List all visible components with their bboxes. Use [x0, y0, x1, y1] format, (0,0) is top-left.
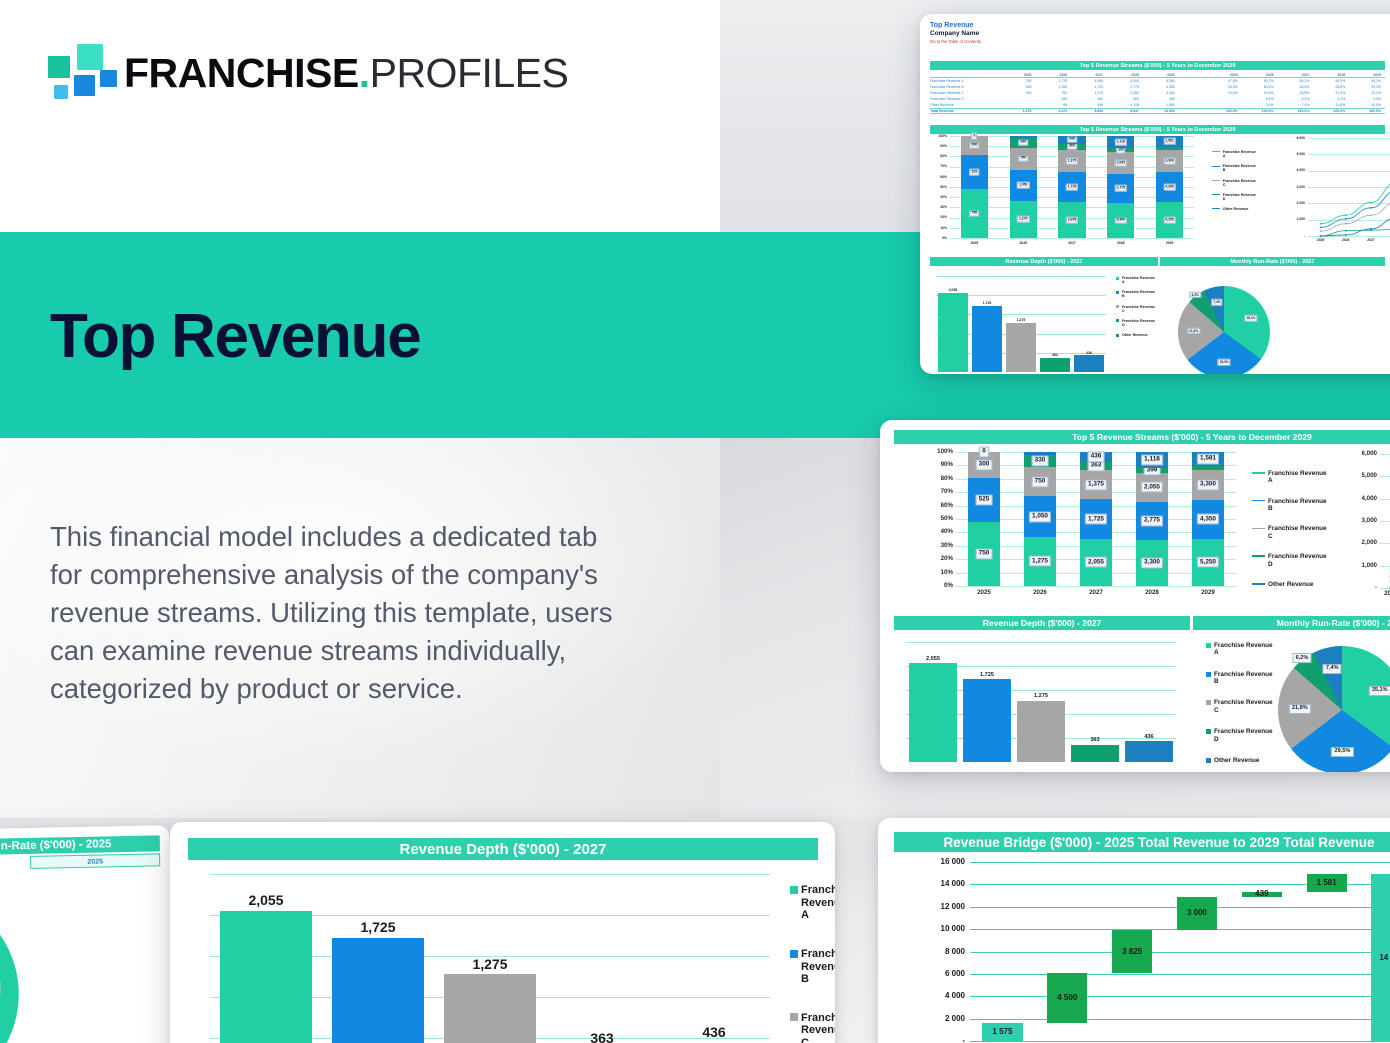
data-label: 2,055 — [1085, 557, 1107, 568]
data-label: 750 — [1032, 476, 1049, 487]
data-label: 1,725 — [1066, 184, 1078, 191]
data-label: 363 — [1071, 737, 1119, 743]
legend-swatch — [1116, 277, 1119, 280]
data-label: 1,050 — [1017, 182, 1029, 189]
pie-label: 7,4% — [1323, 664, 1342, 674]
data-label: 439 — [1242, 889, 1282, 898]
legend-label: Franchise Revenue C — [801, 1012, 835, 1043]
legend-swatch — [1212, 166, 1220, 167]
pie-label: 21,8% — [1187, 328, 1200, 334]
data-label: 1,725 — [332, 919, 424, 935]
legend-label: Franchise Revenue A — [1268, 470, 1327, 485]
column-bar[interactable] — [332, 938, 424, 1043]
legend-label: Franchise Revenue C — [1214, 699, 1273, 714]
legend-item: Other Revenue — [1206, 757, 1273, 764]
legend-large: Franchise Revenue AFranchise Revenue BFr… — [790, 884, 835, 1043]
brand-name-bold: FRANCHISE — [124, 50, 359, 96]
legend-item: Franchise Revenue D — [1116, 319, 1155, 327]
stacked-bar[interactable]: 7505253000 — [961, 136, 988, 238]
legend-item: Franchise Revenue C — [1116, 305, 1155, 313]
legend-label: Other Revenue — [1214, 757, 1259, 764]
banner-depth-mini: Revenue Depth ($'000) - 2027 — [930, 257, 1158, 266]
stacked-bar[interactable]: 3,3002,7752,0553991,118 — [1107, 136, 1134, 238]
stacked-bar-chart-mini[interactable]: 0%10%20%30%40%50%60%70%80%90%100%7505253… — [934, 136, 1194, 248]
revenue-bridge-card[interactable]: Revenue Bridge ($'000) - 2025 Total Reve… — [878, 818, 1390, 1043]
legend-label: Franchise Revenue D — [1223, 193, 1256, 201]
legend-swatch — [1252, 528, 1265, 530]
legend-swatch — [790, 1013, 798, 1021]
legend-item: Other Revenue — [1252, 581, 1327, 588]
data-label: 1,375 — [1085, 479, 1107, 490]
legend-label: Franchise Revenue D — [1268, 553, 1327, 568]
column-bar[interactable] — [972, 306, 1001, 372]
legend-swatch — [1252, 555, 1265, 557]
data-label: 2,055 — [938, 288, 967, 292]
page-title: Top Revenue — [50, 306, 420, 368]
legend-swatch — [1212, 208, 1220, 209]
stacked-bar[interactable]: 1,2751,050750330 — [1024, 452, 1055, 586]
data-label: 1,050 — [1029, 511, 1051, 522]
banner-runrate-mini: Monthly Run-Rate ($'000) - 2027 — [1160, 257, 1385, 266]
legend-item: Franchise Revenue C — [790, 1012, 835, 1043]
legend-item: Franchise Revenue C — [1212, 179, 1256, 187]
legend-item: Other Revenue — [1116, 333, 1155, 337]
data-label: 2,055 — [909, 656, 957, 662]
background-top-left — [0, 0, 720, 232]
pie-label: 7,4% — [1211, 299, 1222, 305]
waterfall-chart[interactable]: -2 0004 0006 0008 00010 00012 00014 0001… — [924, 862, 1390, 1043]
legend-swatch — [1252, 583, 1265, 585]
data-label: 1,118 — [1141, 454, 1163, 465]
data-label: 4,350 — [1163, 184, 1175, 191]
data-label: 1,725 — [963, 672, 1011, 678]
stacked-bar[interactable]: 1,2751,050750330 — [1010, 136, 1037, 238]
legend-item: Franchise Revenue D — [1252, 553, 1327, 568]
data-label: 750 — [976, 549, 993, 560]
column-bar[interactable] — [909, 663, 957, 762]
data-label: 525 — [970, 169, 980, 176]
legend-item: Franchise Revenue A — [790, 884, 835, 922]
legend-item: Franchise Revenue C — [1252, 525, 1327, 540]
revenue-streams-table: 2025202620272028202920252026202720282029… — [930, 72, 1385, 114]
stacked-bar[interactable]: 5,2504,3503,3001,581 — [1156, 136, 1183, 238]
brand-name-thin: PROFILES — [370, 50, 569, 96]
stacked-bar[interactable]: 3,3002,7752,0553991,118 — [1136, 452, 1167, 586]
legend-item: Franchise Revenue C — [1206, 699, 1273, 714]
data-label: 3,300 — [1141, 558, 1163, 569]
banner-streams-chart: Top 5 Revenue Streams ($'000) - 5 Years … — [930, 125, 1385, 134]
legend-item: Franchise Revenue D — [1212, 193, 1256, 201]
data-label: 300 — [976, 459, 993, 470]
legend-label: Franchise Revenue D — [1214, 728, 1273, 743]
data-label: 1 575 — [982, 1027, 1022, 1036]
legend-swatch — [1206, 643, 1211, 648]
pie-label: 35,1% — [1244, 315, 1257, 321]
legend-swatch — [1252, 500, 1265, 502]
legend-label: Franchise Revenue C — [1268, 525, 1327, 540]
data-label: 363 — [556, 1030, 648, 1043]
data-label: 3,300 — [1115, 217, 1127, 224]
legend-item: Franchise Revenue A — [1212, 150, 1256, 158]
data-label: 436 — [1074, 351, 1103, 355]
data-label: 3 000 — [1177, 908, 1217, 917]
pie-label: 6,2% — [1190, 292, 1201, 298]
pie-label: 21,8% — [1289, 704, 1311, 714]
stacked-bar[interactable]: 5,2504,3503,3001,581 — [1192, 452, 1223, 586]
data-label: 4 500 — [1047, 993, 1087, 1002]
pie-label: 6,2% — [1292, 653, 1311, 663]
banner-streams-chart-2: Top 5 Revenue Streams ($'000) - 5 Years … — [894, 430, 1390, 444]
brand-logo[interactable]: FRANCHISE.PROFILES — [48, 44, 568, 102]
legend-item: Other Revenue — [1212, 207, 1256, 211]
data-label: 436 — [668, 1024, 760, 1040]
data-label: 0 — [979, 447, 989, 458]
data-label: 2,055 — [1141, 482, 1163, 493]
revenue-depth-card[interactable]: Revenue Depth ($'000) - 2027 2,0551,7251… — [170, 822, 835, 1043]
stacked-bar[interactable]: 7505253000 — [968, 452, 999, 586]
legend-medium-2: Franchise Revenue AFranchise Revenue BFr… — [1206, 642, 1273, 772]
banner-bridge: Revenue Bridge ($'000) - 2025 Total Reve… — [894, 832, 1390, 852]
logo-mark-icon — [48, 44, 110, 102]
brand-name-dot: . — [359, 50, 370, 96]
legend-label: Other Revenue — [1223, 207, 1249, 211]
column-bar[interactable] — [963, 679, 1011, 762]
workbook-screenshot-top[interactable]: Top Revenue Company Name Go to the Table… — [920, 14, 1390, 374]
legend-label: Franchise Revenue B — [1223, 164, 1256, 172]
data-label: 5,250 — [1197, 557, 1219, 568]
data-label: 2,775 — [1115, 185, 1127, 192]
data-label: 363 — [1040, 353, 1069, 357]
data-label: 2,055 — [220, 892, 312, 908]
legend-label: Franchise Revenue C — [1122, 305, 1155, 313]
pie-chart-2025[interactable]: 47,6%33,3%19,0%0,0%0,0% — [0, 888, 21, 1043]
data-label: 1,118 — [1115, 139, 1127, 146]
legend-swatch — [1212, 180, 1220, 181]
pie-label: 29,5% — [1331, 747, 1353, 757]
legend-item: Franchise Revenue B — [1212, 164, 1256, 172]
data-label: 3,300 — [1197, 479, 1219, 490]
data-label: 1,375 — [1066, 158, 1078, 165]
data-label: 436 — [1067, 137, 1077, 144]
banner-runrate-2: Monthly Run-Rate ($'000) - 2027 — [1193, 616, 1390, 630]
stacked-bar-chart-medium[interactable]: 0%10%20%30%40%50%60%70%80%90%100%7505253… — [926, 452, 1236, 602]
data-label: 2,055 — [1115, 160, 1127, 167]
legend-item: Franchise Revenue B — [790, 948, 835, 986]
legend-label: Franchise Revenue A — [801, 884, 835, 922]
data-label: 3 825 — [1112, 947, 1152, 956]
column-bar[interactable] — [220, 911, 312, 1043]
column-bar[interactable] — [1125, 741, 1173, 762]
column-bar[interactable] — [1017, 701, 1065, 762]
legend-swatch — [1212, 194, 1220, 195]
legend-swatch — [1206, 672, 1211, 677]
data-label: 1,275 — [1006, 318, 1035, 322]
data-label: 1,275 — [444, 956, 536, 972]
data-label: 2,055 — [1066, 217, 1078, 224]
data-label: 436 — [1088, 452, 1105, 463]
banner-depth-2: Revenue Depth ($'000) - 2027 — [894, 616, 1190, 630]
data-label: 436 — [1125, 734, 1173, 740]
series-tag-2025: 2025 — [30, 853, 160, 869]
brand-wordmark: FRANCHISE.PROFILES — [124, 53, 568, 94]
data-label: 2,775 — [1141, 515, 1163, 526]
data-label: 3,300 — [1163, 158, 1175, 165]
legend-label: Franchise Revenue D — [1122, 319, 1155, 327]
legend-swatch — [1116, 291, 1119, 294]
legend-item: Franchise Revenue A — [1252, 470, 1327, 485]
legend-mini-2: Franchise Revenue AFranchise Revenue BFr… — [1116, 276, 1155, 343]
data-label: 1,275 — [1017, 216, 1029, 223]
stacked-bar[interactable]: 2,0551,7251,375363436 — [1058, 136, 1085, 238]
data-label: 4,350 — [1197, 514, 1219, 525]
legend-item: Franchise Revenue B — [1252, 498, 1327, 513]
column-bar[interactable] — [938, 293, 967, 372]
column-bar[interactable] — [1006, 323, 1035, 372]
pie-label: 47,6% — [0, 980, 1, 996]
legend-item: Franchise Revenue B — [1116, 290, 1155, 298]
data-label: 1,275 — [1017, 693, 1065, 699]
workbook-screenshot-middle[interactable]: Top 5 Revenue Streams ($'000) - 5 Years … — [880, 420, 1390, 772]
data-label: 0 — [971, 133, 977, 140]
data-label: 1,275 — [1029, 556, 1051, 567]
sheet-title: Top Revenue — [930, 22, 1390, 29]
legend-label: Franchise Revenue B — [1122, 290, 1155, 298]
legend-swatch — [790, 950, 798, 958]
data-label: 1,581 — [1163, 138, 1175, 145]
sheet-company: Company Name — [930, 30, 1390, 37]
column-chart-mini[interactable]: 2,0551,7251,275363436 — [936, 276, 1106, 372]
legend-label: Franchise Revenue A — [1122, 276, 1155, 284]
legend-item: Franchise Revenue A — [1206, 642, 1273, 657]
data-label: 5,250 — [1163, 217, 1175, 224]
data-label: 14 920 — [1371, 953, 1390, 962]
column-bar[interactable] — [1071, 745, 1119, 762]
legend-swatch — [1116, 319, 1119, 322]
pie-label: 29,5% — [1218, 359, 1231, 365]
legend-swatch — [1116, 334, 1119, 337]
legend-label: Franchise Revenue B — [801, 948, 835, 986]
legend-swatch — [1206, 758, 1211, 763]
legend-medium: Franchise Revenue AFranchise Revenue BFr… — [1252, 470, 1327, 601]
legend-mini: Franchise Revenue AFranchise Revenue BFr… — [1212, 150, 1256, 217]
banner-depth-large: Revenue Depth ($'000) - 2027 — [188, 838, 818, 860]
legend-swatch — [1206, 700, 1211, 705]
data-label: 330 — [1032, 455, 1049, 466]
stacked-bar[interactable]: 2,0551,7251,375363436 — [1080, 452, 1111, 586]
data-label: 1,725 — [1085, 514, 1107, 525]
legend-item: Franchise Revenue B — [1206, 671, 1273, 686]
legend-swatch — [1252, 472, 1265, 474]
legend-swatch — [1206, 729, 1211, 734]
data-label: 1,725 — [972, 301, 1001, 305]
pie-chart-medium[interactable]: 35,1%29,5%21,8%6,2%7,4% — [1278, 646, 1390, 772]
legend-swatch — [1116, 305, 1119, 308]
pie-label: 35,1% — [1369, 686, 1390, 696]
banner-streams-table: Top 5 Revenue Streams ($'000) - 5 Years … — [930, 61, 1385, 70]
legend-swatch — [790, 886, 798, 894]
legend-label: Other Revenue — [1122, 333, 1148, 337]
legend-swatch — [1212, 151, 1220, 152]
line-chart-medium[interactable]: -1,0002,0003,0004,0005,0006,000202520262… — [1350, 454, 1390, 602]
data-label: 1 581 — [1307, 878, 1347, 887]
data-label: 525 — [976, 494, 993, 505]
column-chart-medium[interactable]: 2,0551,7251,275363436 — [906, 642, 1176, 762]
column-bar[interactable] — [1074, 355, 1103, 372]
line-chart-mini[interactable]: -1,0002,0003,0004,0005,0006,000202520262… — [1286, 138, 1390, 246]
toc-link[interactable]: Go to the Table of Contents — [930, 39, 1390, 44]
data-label: 750 — [970, 210, 980, 217]
column-bar[interactable] — [1040, 358, 1069, 372]
legend-label: Franchise Revenue C — [1223, 179, 1256, 187]
legend-label: Other Revenue — [1268, 581, 1313, 588]
pie-chart-mini[interactable]: 35,1%29,5%21,8%6,2%7,4% — [1178, 286, 1270, 374]
data-label: 300 — [970, 142, 980, 149]
data-label: 363 — [1067, 144, 1077, 151]
table-row: Total Revenue1,5753,4715,8549,64714,9201… — [930, 108, 1385, 114]
legend-item: Franchise Revenue D — [1206, 728, 1273, 743]
legend-label: Franchise Revenue B — [1214, 671, 1273, 686]
data-label: 750 — [1018, 155, 1028, 162]
data-label: 1,581 — [1197, 454, 1219, 465]
legend-label: Franchise Revenue A — [1214, 642, 1273, 657]
legend-label: Franchise Revenue B — [1268, 498, 1327, 513]
legend-item: Franchise Revenue A — [1116, 276, 1155, 284]
column-bar[interactable] — [444, 974, 536, 1043]
page-description: This financial model includes a dedicate… — [50, 518, 616, 708]
data-label: 330 — [1018, 140, 1028, 147]
column-chart-large[interactable]: 2,0551,7251,275363436 — [210, 874, 770, 1043]
legend-label: Franchise Revenue A — [1223, 150, 1256, 158]
runrate-2025-card[interactable]: Monthly Run-Rate ($'000) - 2025 2025 47,… — [0, 825, 174, 1043]
